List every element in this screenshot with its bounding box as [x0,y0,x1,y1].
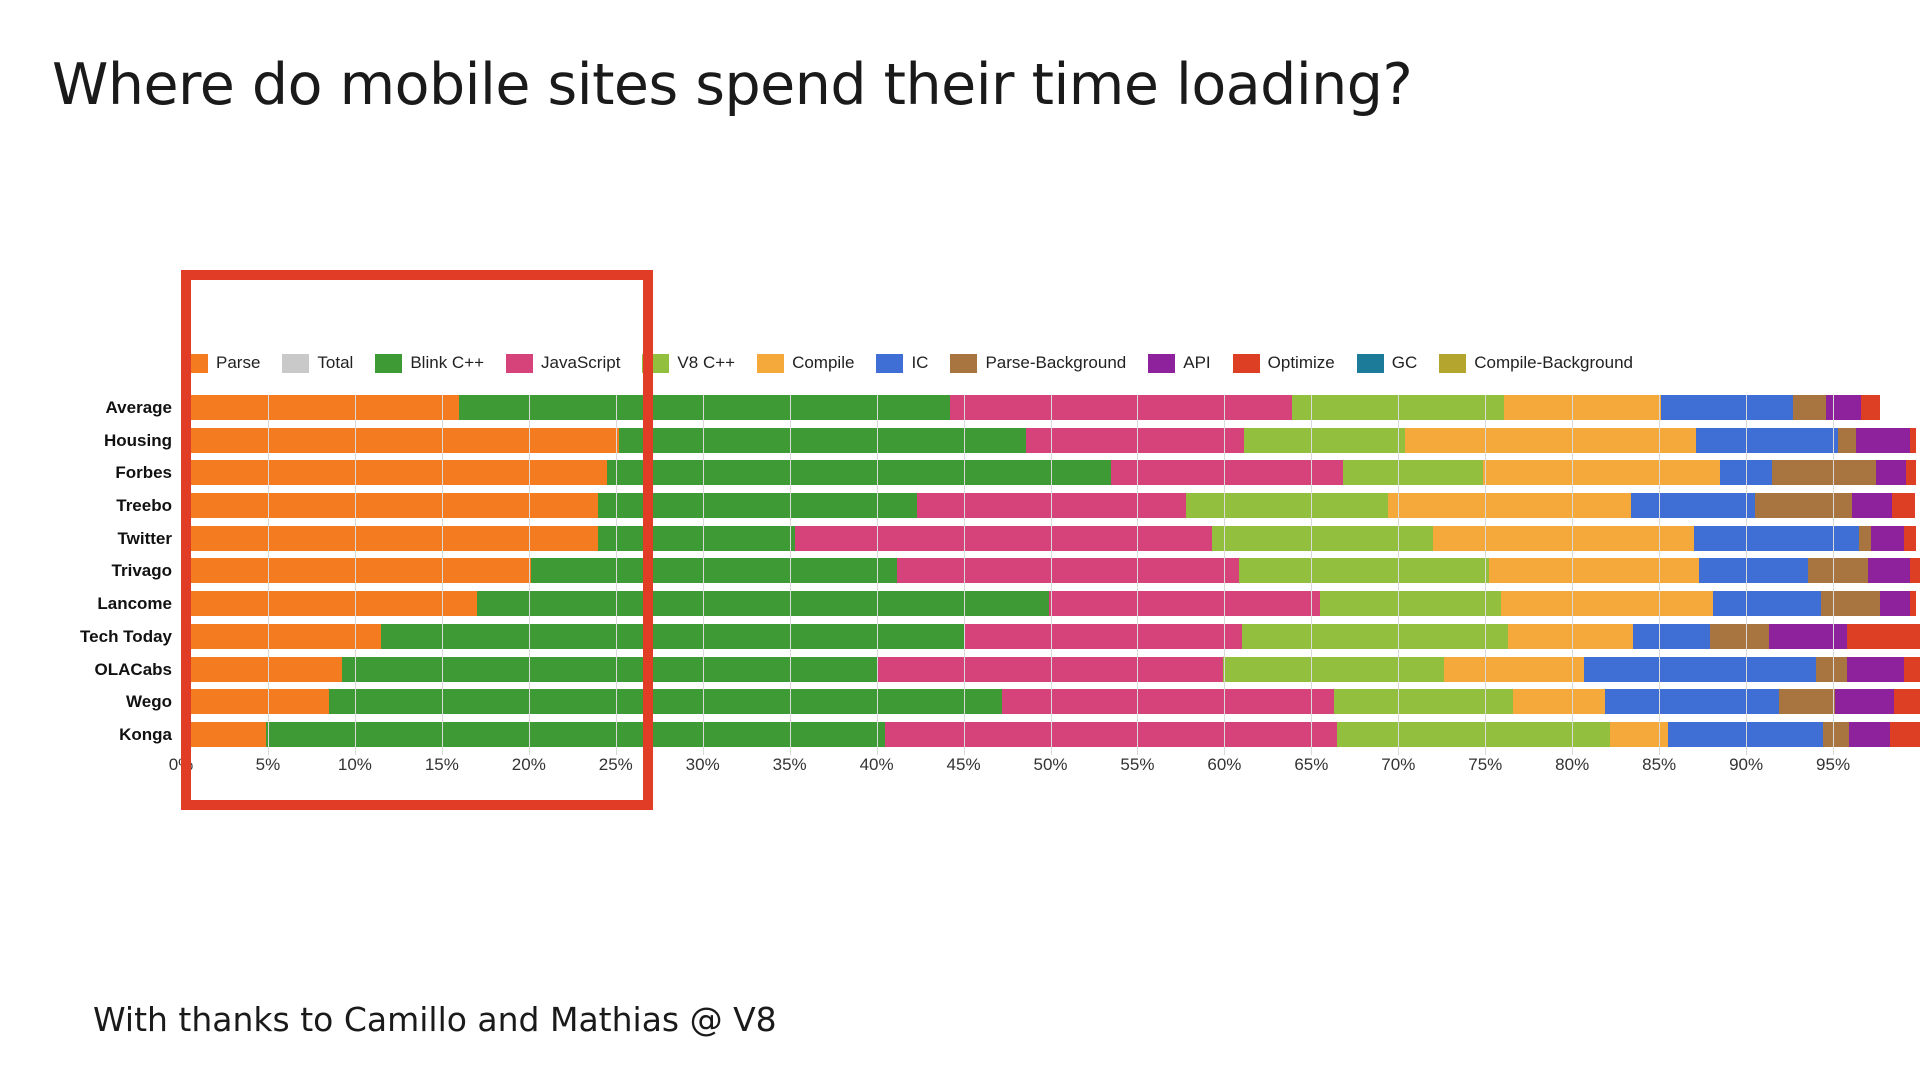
bar-track [181,460,1920,485]
bar-segment-javascript[interactable] [1049,591,1320,616]
bar-row-label: Average [0,395,172,420]
bar-segment-optimize[interactable] [1904,657,1920,682]
bar-row: Trivago [0,558,1920,591]
x-axis-tick-label: 5% [256,755,281,775]
legend-item-label: IC [911,353,928,373]
legend-item[interactable]: GC [1357,353,1418,373]
bar-segment-parse-background[interactable] [1816,657,1847,682]
x-axis-tick-label: 25% [599,755,633,775]
bar-row: Average [0,395,1920,428]
chart-legend: ParseTotalBlink C++JavaScriptV8 C++Compi… [181,348,1920,378]
bar-segment-ic[interactable] [1699,558,1808,583]
bar-row: Forbes [0,460,1920,493]
bar-row: Tech Today [0,624,1920,657]
bar-track [181,657,1920,682]
legend-item-label: Blink C++ [410,353,484,373]
legend-item[interactable]: Optimize [1233,353,1335,373]
legend-item[interactable]: V8 C++ [642,353,735,373]
bar-track [181,689,1920,714]
legend-item-label: Compile [792,353,854,373]
bar-segment-v8-c-[interactable] [1239,558,1489,583]
bar-segment-blink-c-[interactable] [619,428,1026,453]
bar-row-label: OLACabs [0,657,172,682]
bar-segment-ic[interactable] [1668,722,1823,747]
bar-segment-compile[interactable] [1405,428,1695,453]
bar-segment-ic[interactable] [1713,591,1821,616]
bar-segment-javascript[interactable] [795,526,1212,551]
bar-segment-blink-c-[interactable] [381,624,964,649]
bar-row-label: Trivago [0,558,172,583]
bar-segment-api[interactable] [1876,460,1906,485]
bar-segment-blink-c-[interactable] [477,591,1049,616]
bar-segment-optimize[interactable] [1910,591,1917,616]
legend-swatch-icon [1148,354,1175,373]
legend-item-label: V8 C++ [677,353,735,373]
x-axis-tick-label: 60% [1207,755,1241,775]
bar-segment-compile[interactable] [1513,689,1605,714]
legend-swatch-icon [375,354,402,373]
bar-segment-parse[interactable] [181,460,607,485]
bar-segment-v8-c-[interactable] [1320,591,1501,616]
bar-segment-v8-c-[interactable] [1223,657,1444,682]
bar-segment-parse[interactable] [181,428,619,453]
legend-item[interactable]: API [1148,353,1210,373]
legend-swatch-icon [181,354,208,373]
bar-segment-compile[interactable] [1489,558,1699,583]
bar-row-label: Forbes [0,460,172,485]
bar-segment-optimize[interactable] [1892,493,1915,518]
bar-segment-parse[interactable] [181,689,329,714]
legend-swatch-icon [642,354,669,373]
bar-segment-compile[interactable] [1504,395,1661,420]
x-axis-tick-label: 15% [425,755,459,775]
bar-segment-api[interactable] [1871,526,1904,551]
bar-segment-optimize[interactable] [1906,460,1916,485]
bar-track [181,428,1920,453]
x-axis-tick-label: 50% [1033,755,1067,775]
bar-segment-compile[interactable] [1508,624,1633,649]
bar-segment-parse[interactable] [181,591,477,616]
bar-track [181,624,1920,649]
bar-segment-optimize[interactable] [1910,428,1917,453]
legend-swatch-icon [282,354,309,373]
bar-segment-blink-c-[interactable] [266,722,885,747]
bar-row: Lancome [0,591,1920,624]
x-axis-tick-label: 75% [1468,755,1502,775]
x-axis-tick-label: 30% [686,755,720,775]
bar-segment-v8-c-[interactable] [1212,526,1433,551]
bar-row: Wego [0,689,1920,722]
bar-segment-parse-background[interactable] [1710,624,1769,649]
bar-segment-javascript[interactable] [1111,460,1342,485]
bar-segment-parse[interactable] [181,395,459,420]
bar-segment-blink-c-[interactable] [598,493,916,518]
legend-item-label: JavaScript [541,353,620,373]
bar-segment-api[interactable] [1847,657,1904,682]
bar-segment-optimize[interactable] [1904,526,1916,551]
legend-swatch-icon [506,354,533,373]
bar-track [181,395,1920,420]
bar-segment-parse[interactable] [181,624,381,649]
bar-segment-v8-c-[interactable] [1334,689,1513,714]
bar-segment-parse-background[interactable] [1823,722,1849,747]
bar-segment-compile[interactable] [1388,493,1631,518]
x-axis-tick-label: 80% [1555,755,1589,775]
x-axis-tick-label: 95% [1816,755,1850,775]
legend-swatch-icon [950,354,977,373]
bar-segment-parse-background[interactable] [1838,428,1855,453]
x-axis-tick-label: 35% [773,755,807,775]
bar-segment-api[interactable] [1880,591,1910,616]
legend-item[interactable]: Total [282,353,353,373]
bar-segment-parse[interactable] [181,722,266,747]
bar-segment-v8-c-[interactable] [1343,460,1484,485]
bar-segment-api[interactable] [1868,558,1909,583]
bar-row: Konga [0,722,1920,755]
legend-swatch-icon [1439,354,1466,373]
bar-track [181,526,1920,551]
bar-track [181,558,1920,583]
bar-segment-parse-background[interactable] [1808,558,1868,583]
bar-segment-compile[interactable] [1444,657,1584,682]
bar-segment-compile[interactable] [1483,460,1720,485]
bar-segment-ic[interactable] [1720,460,1772,485]
bar-segment-api[interactable] [1852,493,1892,518]
bar-segment-javascript[interactable] [885,722,1337,747]
bar-track [181,493,1920,518]
legend-item-label: Parse-Background [985,353,1126,373]
bar-segment-blink-c-[interactable] [607,460,1111,485]
legend-item-label: Compile-Background [1474,353,1633,373]
bar-segment-blink-c-[interactable] [531,558,897,583]
bar-segment-optimize[interactable] [1861,395,1880,420]
bar-row-label: Twitter [0,526,172,551]
bar-segment-parse[interactable] [181,526,598,551]
x-axis-tick-label: 10% [338,755,372,775]
bar-segment-compile[interactable] [1433,526,1694,551]
legend-item-label: GC [1392,353,1418,373]
legend-item-label: Parse [216,353,260,373]
bar-row-label: Lancome [0,591,172,616]
bar-segment-compile[interactable] [1501,591,1713,616]
x-axis-tick-label: 20% [512,755,546,775]
x-axis-tick-label: 85% [1642,755,1676,775]
x-axis-tick-label: 45% [947,755,981,775]
bar-segment-javascript[interactable] [964,624,1242,649]
legend-item[interactable]: Parse-Background [950,353,1126,373]
bar-segment-api[interactable] [1835,689,1894,714]
bar-segment-ic[interactable] [1584,657,1816,682]
bar-segment-parse-background[interactable] [1821,591,1880,616]
bar-row-label: Treebo [0,493,172,518]
bar-segment-optimize[interactable] [1890,722,1920,747]
x-axis-tick-label: 55% [1120,755,1154,775]
bar-segment-ic[interactable] [1631,493,1754,518]
bar-track [181,591,1920,616]
legend-item[interactable]: Compile [757,353,854,373]
bar-row: Treebo [0,493,1920,526]
bar-segment-blink-c-[interactable] [329,689,1002,714]
legend-item[interactable]: JavaScript [506,353,620,373]
bar-segment-ic[interactable] [1661,395,1793,420]
bar-segment-optimize[interactable] [1894,689,1920,714]
legend-item[interactable]: IC [876,353,928,373]
bar-segment-ic[interactable] [1696,428,1839,453]
legend-item[interactable]: Parse [181,353,260,373]
bar-segment-javascript[interactable] [917,493,1187,518]
bar-segment-api[interactable] [1826,395,1861,420]
legend-swatch-icon [876,354,903,373]
bar-segment-ic[interactable] [1633,624,1710,649]
bar-segment-parse[interactable] [181,493,598,518]
bar-segment-optimize[interactable] [1910,558,1920,583]
bar-segment-v8-c-[interactable] [1186,493,1388,518]
footer-note: With thanks to Camillo and Mathias @ V8 [93,1000,777,1039]
legend-swatch-icon [757,354,784,373]
page-title: Where do mobile sites spend their time l… [52,52,1412,118]
bar-segment-v8-c-[interactable] [1242,624,1508,649]
bar-segment-ic[interactable] [1694,526,1859,551]
bar-segment-javascript[interactable] [1026,428,1243,453]
bar-segment-ic[interactable] [1605,689,1779,714]
bar-segment-api[interactable] [1769,624,1847,649]
x-axis: 0%5%10%15%20%25%30%35%40%45%50%55%60%65%… [181,755,1920,785]
bar-row-label: Wego [0,689,172,714]
bar-segment-javascript[interactable] [878,657,1222,682]
legend-item-label: API [1183,353,1210,373]
bar-segment-parse[interactable] [181,657,342,682]
bar-segment-v8-c-[interactable] [1292,395,1504,420]
bar-segment-javascript[interactable] [897,558,1239,583]
bar-segment-blink-c-[interactable] [459,395,949,420]
chart-rows: AverageHousingForbesTreeboTwitterTrivago… [0,395,1920,755]
x-axis-tick-label: 40% [860,755,894,775]
bar-row: Twitter [0,526,1920,559]
x-axis-tick-label: 65% [1294,755,1328,775]
bar-segment-parse-background[interactable] [1793,395,1826,420]
bar-segment-optimize[interactable] [1847,624,1920,649]
x-axis-tick-label: 0% [169,755,194,775]
bar-segment-javascript[interactable] [950,395,1293,420]
x-axis-tick-label: 70% [1381,755,1415,775]
bar-track [181,722,1920,747]
bar-row: Housing [0,428,1920,461]
bar-row-label: Housing [0,428,172,453]
legend-item[interactable]: Blink C++ [375,353,484,373]
bar-segment-api[interactable] [1849,722,1891,747]
bar-segment-parse-background[interactable] [1859,526,1871,551]
bar-segment-parse[interactable] [181,558,531,583]
bar-segment-compile[interactable] [1610,722,1667,747]
x-axis-tick-label: 90% [1729,755,1763,775]
legend-swatch-icon [1233,354,1260,373]
bar-segment-v8-c-[interactable] [1337,722,1610,747]
bar-segment-v8-c-[interactable] [1244,428,1406,453]
bar-row-label: Tech Today [0,624,172,649]
legend-item-label: Total [317,353,353,373]
bar-row-label: Konga [0,722,172,747]
bar-segment-javascript[interactable] [1002,689,1334,714]
bar-segment-parse-background[interactable] [1779,689,1835,714]
legend-item[interactable]: Compile-Background [1439,353,1633,373]
bar-segment-blink-c-[interactable] [342,657,878,682]
bar-segment-parse-background[interactable] [1772,460,1876,485]
bar-segment-blink-c-[interactable] [598,526,795,551]
legend-item-label: Optimize [1268,353,1335,373]
bar-segment-parse-background[interactable] [1755,493,1852,518]
legend-swatch-icon [1357,354,1384,373]
bar-segment-api[interactable] [1856,428,1910,453]
bar-row: OLACabs [0,657,1920,690]
stacked-bar-chart: ParseTotalBlink C++JavaScriptV8 C++Compi… [0,255,1920,815]
